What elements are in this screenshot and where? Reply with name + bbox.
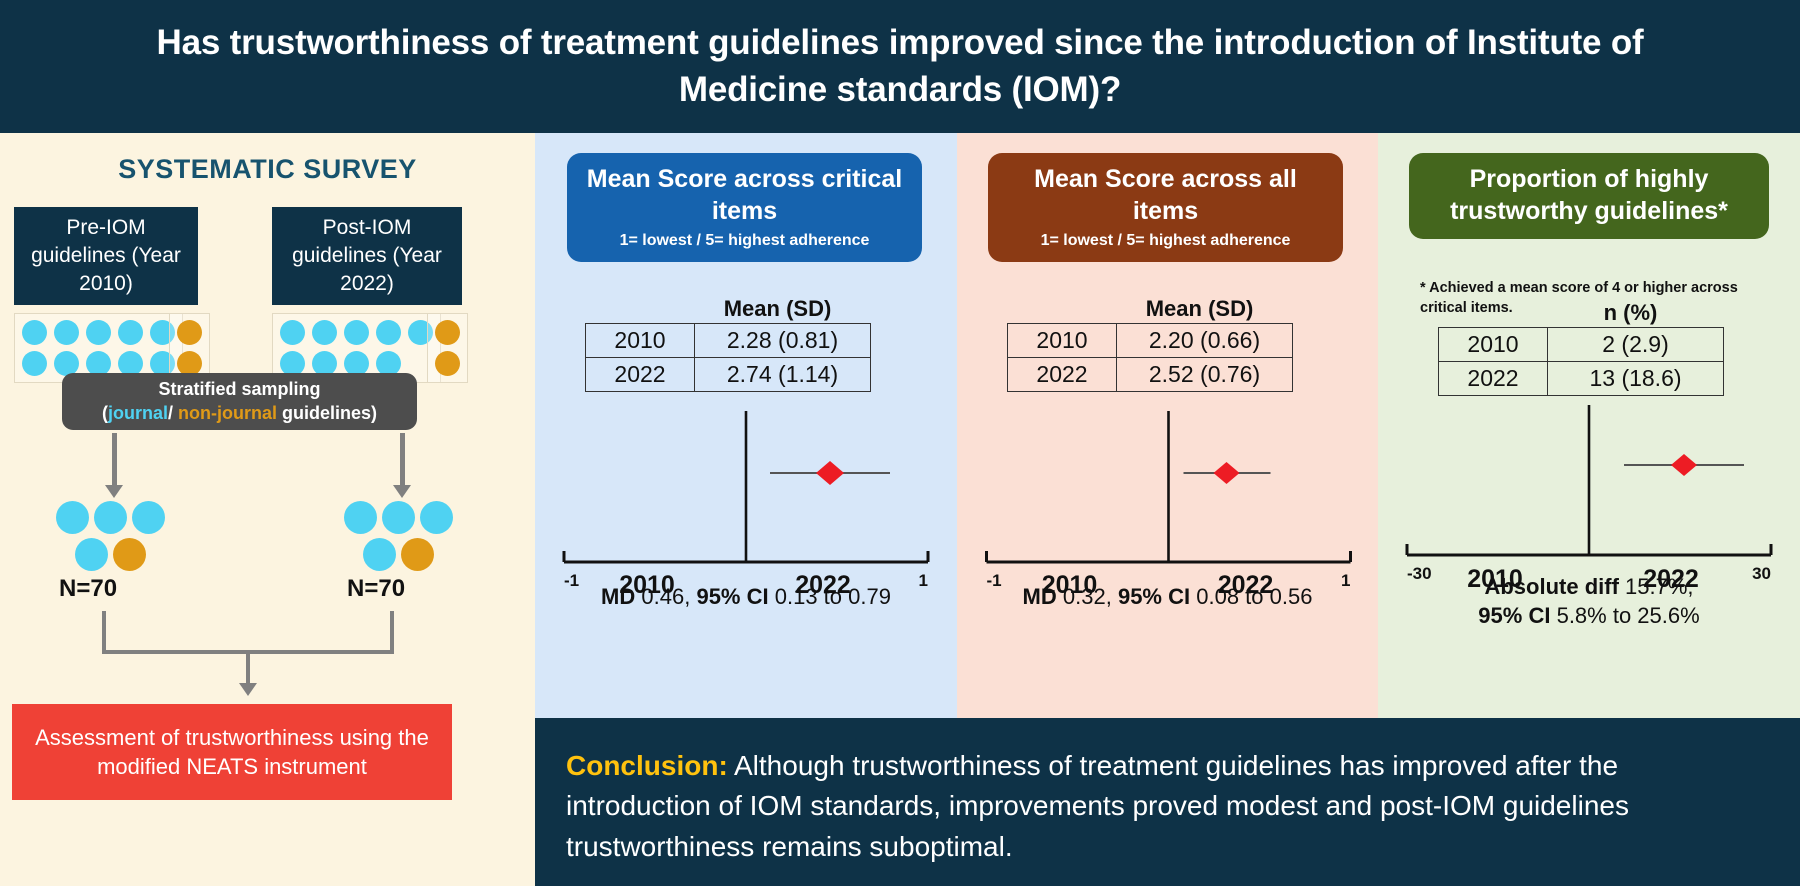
stat-value: 0.32, [1063,584,1112,609]
nonjournal-legend-label: non-journal [178,403,277,423]
conclusion-label: Conclusion: [566,750,728,781]
panel-header-title: Proportion of highly trustworthy guideli… [1423,164,1755,227]
stat-ci-label: 95% CI [1118,584,1190,609]
stat-ci-value: 0.08 to 0.56 [1196,584,1312,609]
sample-size-post: N=70 [347,575,405,603]
statistic-line-proportion: Absolute diff 15.7%, 95% CI 5.8% to 25.6… [1378,573,1800,630]
arrow-stem-left [112,433,117,488]
cluster-row [56,501,165,534]
journal-dot [363,538,396,571]
nonjournal-dot [177,320,202,345]
nonjournal-dot [435,351,460,376]
stratified-sampling-line1: Stratified sampling [158,378,320,401]
panel-header-all-items: Mean Score across all items 1= lowest / … [988,153,1343,262]
sample-cluster-pre [56,501,165,571]
conclusion-bar: Conclusion: Although trustworthiness of … [535,718,1800,886]
journal-dot [22,351,47,376]
journal-dot [382,501,415,534]
journal-dot [132,501,165,534]
stratified-sampling-box: Stratified sampling (journal/ non-journa… [62,373,417,430]
panel-header-subtitle: 1= lowest / 5= highest adherence [1002,232,1329,250]
cell-value: 2.28 (0.81) [695,324,871,358]
stat-row-1: Absolute diff 15.7%, [1378,573,1800,602]
cell-value: 2.74 (1.14) [695,358,871,392]
table-row: 2022 2.52 (0.76) [1008,358,1293,392]
cell-year: 2022 [586,358,695,392]
panel-header-critical-items: Mean Score across critical items 1= lowe… [567,153,922,262]
dot-row [177,320,202,345]
cell-value: 13 (18.6) [1548,362,1724,396]
stat-prefix: Absolute diff [1484,574,1618,599]
panel-header-subtitle: 1= lowest / 5= highest adherence [581,232,908,250]
result-panel-critical-items: Mean Score across critical items 1= lowe… [535,133,957,718]
stat-ci-label: 95% CI [1478,603,1550,628]
cell-value: 2 (2.9) [1548,328,1724,362]
journal-legend-label: journal [108,403,168,423]
table-caption-critical: Mean (SD) [690,296,865,322]
statistic-line-critical: MD 0.46, 95% CI 0.13 to 0.79 [535,583,957,612]
statistic-line-all: MD 0.32, 95% CI 0.08 to 0.56 [957,583,1378,612]
sample-cluster-post [344,501,453,571]
stat-prefix: MD [1023,584,1057,609]
journal-dot [56,501,89,534]
nonjournal-dot [401,538,434,571]
panel-header-proportion: Proportion of highly trustworthy guideli… [1409,153,1769,239]
group-box-post-iom: Post-IOM guidelines (Year 2022) [272,207,462,305]
cluster-row [56,538,165,571]
arrow-head-merge-icon [239,683,257,696]
stat-ci-value: 5.8% to 25.6% [1557,603,1700,628]
table-row: 2022 2.74 (1.14) [586,358,871,392]
legend-separator: / [168,403,178,423]
page-title: Has trustworthiness of treatment guideli… [80,20,1720,113]
journal-dot [376,320,401,345]
cluster-row [344,501,453,534]
stat-value: 0.46, [641,584,690,609]
arrow-head-right-icon [393,485,411,498]
cell-year: 2010 [1008,324,1117,358]
bracket-stem-down [246,650,250,686]
cell-value: 2.52 (0.76) [1117,358,1293,392]
bracket-right-vertical [390,611,394,653]
arrow-head-left-icon [105,485,123,498]
journal-dot [118,320,143,345]
cell-year: 2022 [1008,358,1117,392]
result-panel-all-items: Mean Score across all items 1= lowest / … [957,133,1378,718]
section-heading-systematic-survey: SYSTEMATIC SURVEY [0,154,535,185]
table-row: 2010 2.28 (0.81) [586,324,871,358]
nonjournal-dot [435,320,460,345]
panel-header-title: Mean Score across all items [1002,164,1329,227]
conclusion-text-block: Conclusion: Although trustworthiness of … [566,746,1766,867]
result-panel-proportion: Proportion of highly trustworthy guideli… [1378,133,1800,718]
infographic-poster: Has trustworthiness of treatment guideli… [0,0,1800,886]
journal-dot [22,320,47,345]
nonjournal-dot [113,538,146,571]
stat-row-2: 95% CI 5.8% to 25.6% [1378,602,1800,631]
journal-dot [54,320,79,345]
results-table-proportion: 2010 2 (2.9) 2022 13 (18.6) [1438,327,1724,396]
table-row: 2010 2.20 (0.66) [1008,324,1293,358]
dot-row [435,351,460,376]
stat-prefix: MD [601,584,635,609]
neats-assessment-box: Assessment of trustworthiness using the … [12,704,452,800]
dot-row [22,320,175,345]
table-caption-all: Mean (SD) [1112,296,1287,322]
journal-dot [344,320,369,345]
journal-dot [86,320,111,345]
results-table-critical: 2010 2.28 (0.81) 2022 2.74 (1.14) [585,323,871,392]
journal-dot [280,320,305,345]
stratified-sampling-line2: (journal/ non-journal guidelines) [102,402,377,425]
group-box-pre-iom: Pre-IOM guidelines (Year 2010) [14,207,198,305]
arrow-stem-right [400,433,405,488]
journal-dot [312,320,337,345]
journal-dot [344,501,377,534]
journal-dot [420,501,453,534]
systematic-survey-panel: SYSTEMATIC SURVEY Pre-IOM guidelines (Ye… [0,133,535,886]
cell-year: 2010 [1439,328,1548,362]
journal-dot [75,538,108,571]
table-row: 2022 13 (18.6) [1439,362,1724,396]
table-row: 2010 2 (2.9) [1439,328,1724,362]
bracket-left-vertical [102,611,106,653]
cell-value: 2.20 (0.66) [1117,324,1293,358]
table-caption-proportion: n (%) [1543,300,1718,326]
results-table-all: 2010 2.20 (0.66) 2022 2.52 (0.76) [1007,323,1293,392]
dot-row [435,320,460,345]
sample-size-pre: N=70 [59,575,117,603]
poster-title-bar: Has trustworthiness of treatment guideli… [0,0,1800,133]
panel-header-title: Mean Score across critical items [581,164,908,227]
stat-ci-value: 0.13 to 0.79 [775,584,891,609]
stat-ci-label: 95% CI [696,584,768,609]
dot-row [280,320,433,345]
cell-year: 2010 [586,324,695,358]
cluster-row [344,538,453,571]
dot-grid-post-nonjournal [427,313,468,383]
journal-dot [94,501,127,534]
stat-value: 15.7%, [1625,574,1694,599]
legend-suffix: guidelines) [277,403,377,423]
cell-year: 2022 [1439,362,1548,396]
